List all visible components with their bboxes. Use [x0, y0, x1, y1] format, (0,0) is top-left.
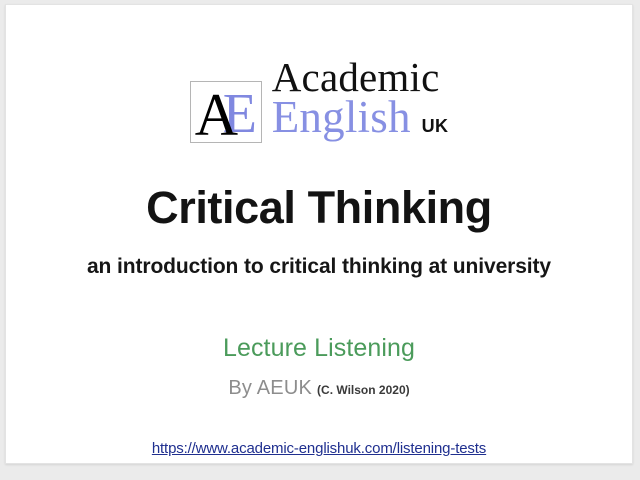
- logo-letter-a: A: [195, 85, 238, 145]
- author-name: By AEUK: [228, 377, 312, 399]
- author-credit: (C. Wilson 2020): [317, 383, 410, 397]
- logo-second-line: English UK: [272, 95, 449, 140]
- logo-word-academic: Academic: [272, 57, 440, 97]
- academic-english-uk-logo: A E Academic English UK: [6, 57, 632, 143]
- logo-word-english: English: [272, 95, 411, 140]
- logo-monogram-box: A E: [190, 81, 262, 143]
- slide-title: Critical Thinking: [6, 184, 632, 231]
- course-type-label: Lecture Listening: [6, 334, 632, 363]
- logo-wordmark: Academic English UK: [272, 57, 449, 140]
- source-url-link[interactable]: https://www.academic-englishuk.com/liste…: [6, 440, 632, 457]
- author-line: By AEUK(C. Wilson 2020): [6, 378, 632, 398]
- logo-word-uk: UK: [422, 116, 449, 137]
- slide-subtitle: an introduction to critical thinking at …: [61, 253, 577, 281]
- presentation-slide: A E Academic English UK Critical Thinkin…: [5, 4, 633, 464]
